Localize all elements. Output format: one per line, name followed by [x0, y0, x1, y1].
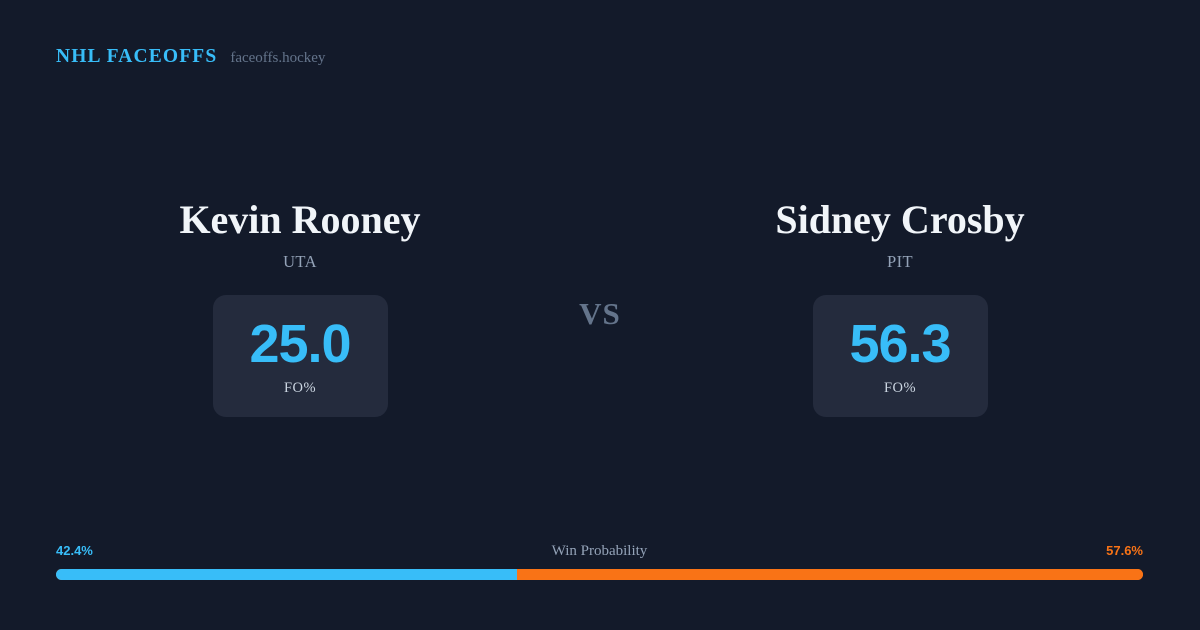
win-probability-section: 42.4% Win Probability 57.6%: [56, 541, 1143, 580]
win-probability-right-percent: 57.6%: [1106, 541, 1143, 561]
stat-value-right: 56.3: [849, 316, 950, 372]
player-card-right: Sidney Crosby PIT 56.3 FO%: [690, 196, 1110, 417]
player-team-left: UTA: [90, 251, 510, 273]
player-team-right: PIT: [690, 251, 1110, 273]
matchup-section: Kevin Rooney UTA 25.0 FO% VS Sidney Cros…: [0, 196, 1200, 426]
win-probability-caption: Win Probability: [56, 541, 1143, 561]
win-probability-bar-right-fill: [517, 569, 1143, 580]
brand-bar: NHL FACEOFFS faceoffs.hockey: [56, 46, 325, 68]
stat-box-right: 56.3 FO%: [813, 295, 988, 417]
win-probability-bar-left-fill: [56, 569, 517, 580]
win-probability-bar: [56, 569, 1143, 580]
player-name-left: Kevin Rooney: [90, 196, 510, 244]
stat-label-left: FO%: [284, 379, 316, 397]
brand-domain: faceoffs.hockey: [230, 50, 325, 67]
player-name-right: Sidney Crosby: [690, 196, 1110, 244]
stat-label-right: FO%: [884, 379, 916, 397]
brand-title: NHL FACEOFFS: [56, 46, 217, 68]
win-probability-labels: 42.4% Win Probability 57.6%: [56, 541, 1143, 561]
